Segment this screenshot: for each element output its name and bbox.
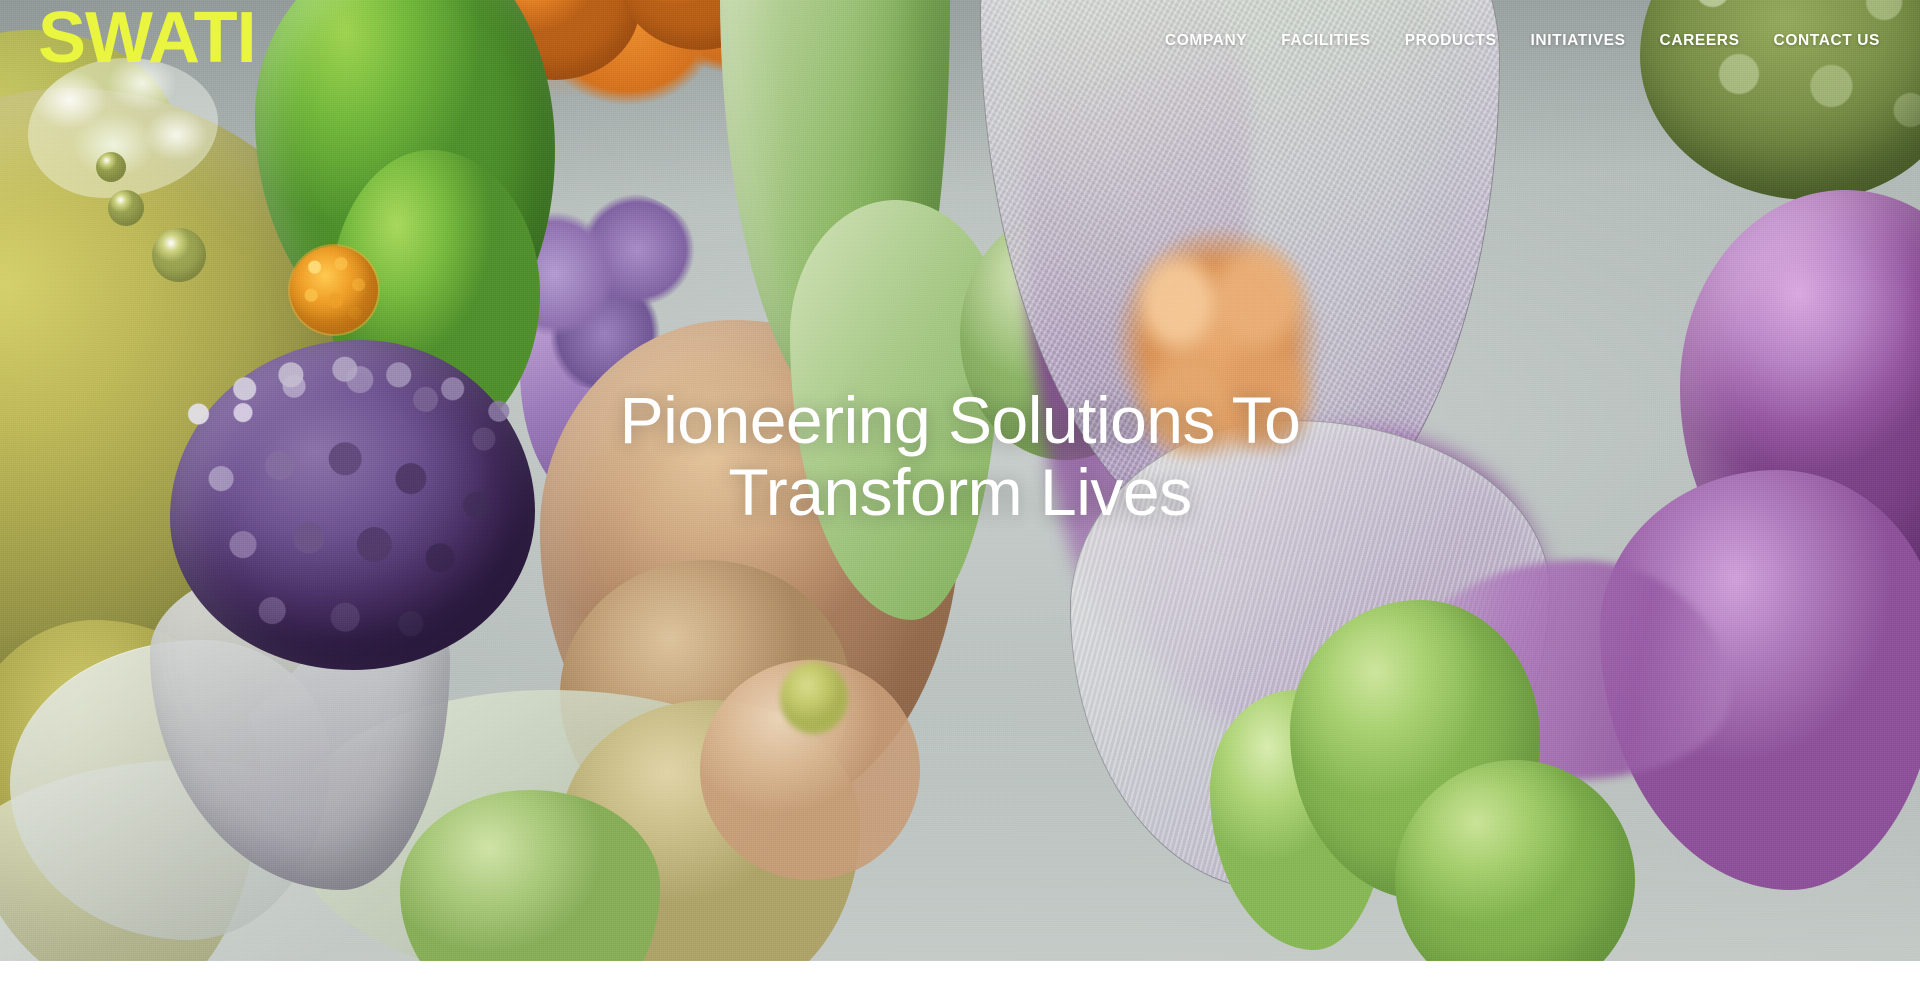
brand-logo[interactable]: SWATI xyxy=(38,2,256,74)
droplet-shape-2 xyxy=(108,190,144,226)
nav-item-initiatives[interactable]: INITIATIVES xyxy=(1531,32,1626,50)
nav-item-contact-us[interactable]: CONTACT US xyxy=(1774,32,1880,50)
main-navigation: COMPANY FACILITIES PRODUCTS INITIATIVES … xyxy=(1165,32,1880,50)
orange-spiky-sphere xyxy=(290,246,378,334)
site-header: SWATI COMPANY FACILITIES PRODUCTS INITIA… xyxy=(0,0,1920,88)
hero-headline-line-1: Pioneering Solutions To xyxy=(0,385,1920,457)
nav-item-facilities[interactable]: FACILITIES xyxy=(1281,32,1371,50)
yellow-fuzzy-sphere xyxy=(780,662,848,734)
hero-headline-line-2: Transform Lives xyxy=(0,457,1920,529)
droplet-shape-1 xyxy=(152,228,206,282)
page-bottom-strip xyxy=(0,961,1920,993)
nav-item-company[interactable]: COMPANY xyxy=(1165,32,1247,50)
nav-item-careers[interactable]: CAREERS xyxy=(1660,32,1740,50)
hero-section: SWATI COMPANY FACILITIES PRODUCTS INITIA… xyxy=(0,0,1920,961)
droplet-shape-3 xyxy=(96,152,126,182)
hero-headline: Pioneering Solutions To Transform Lives xyxy=(0,385,1920,529)
nav-item-products[interactable]: PRODUCTS xyxy=(1405,32,1497,50)
